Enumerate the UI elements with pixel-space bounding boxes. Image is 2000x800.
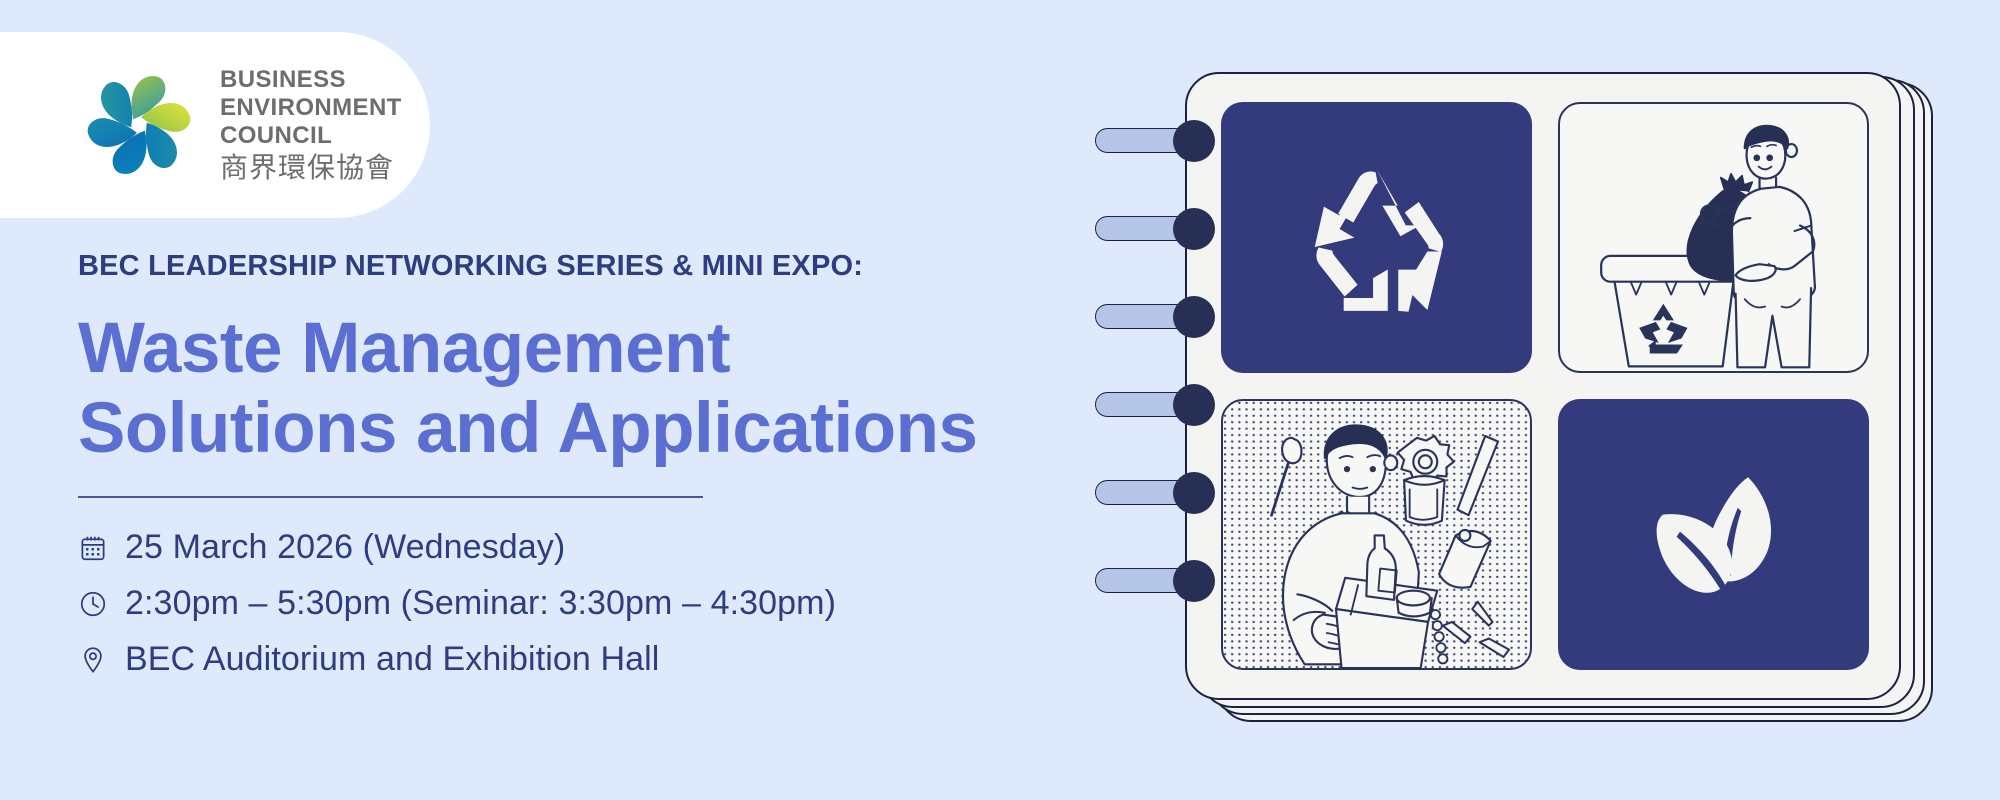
binder-ring-1 bbox=[1095, 120, 1215, 160]
binder-rings bbox=[1095, 120, 1215, 648]
man-bin-bag-tile bbox=[1558, 102, 1869, 373]
event-time-text: 2:30pm – 5:30pm (Seminar: 3:30pm – 4:30p… bbox=[125, 584, 836, 623]
ring-dot bbox=[1173, 120, 1215, 162]
two-leaves-icon bbox=[1629, 450, 1799, 620]
location-pin-icon bbox=[78, 645, 108, 675]
event-detail-time: 2:30pm – 5:30pm (Seminar: 3:30pm – 4:30p… bbox=[78, 584, 1138, 623]
event-details-list: 25 March 2026 (Wednesday) 2:30pm – 5:30p… bbox=[78, 528, 1138, 679]
page-title-line-2: Solutions and Applications bbox=[78, 389, 1138, 469]
ring-dot bbox=[1173, 472, 1215, 514]
binder-ring-2 bbox=[1095, 208, 1215, 248]
ring-dot bbox=[1173, 560, 1215, 602]
binder-ring-4 bbox=[1095, 384, 1215, 424]
logo-line-1: BUSINESS bbox=[220, 66, 402, 94]
binder-ring-3 bbox=[1095, 296, 1215, 336]
event-eyebrow: BEC LEADERSHIP NETWORKING SERIES & MINI … bbox=[78, 250, 1138, 283]
event-date-text: 25 March 2026 (Wednesday) bbox=[125, 528, 565, 567]
page-title: Waste Management Solutions and Applicati… bbox=[78, 309, 1138, 468]
ring-dot bbox=[1173, 208, 1215, 250]
page-title-line-1: Waste Management bbox=[78, 309, 730, 388]
ring-dot bbox=[1173, 296, 1215, 338]
ring-dot bbox=[1173, 384, 1215, 426]
logo-line-2: ENVIRONMENT bbox=[220, 94, 402, 122]
binder-ring-6 bbox=[1095, 560, 1215, 600]
notebook-illustration bbox=[1185, 72, 1945, 722]
event-copy-block: BEC LEADERSHIP NETWORKING SERIES & MINI … bbox=[78, 250, 1138, 679]
notebook-tile-grid bbox=[1221, 102, 1869, 670]
event-detail-date: 25 March 2026 (Wednesday) bbox=[78, 528, 1138, 567]
logo-pill: BUSINESS ENVIRONMENT COUNCIL 商界環保協會 bbox=[0, 32, 430, 218]
recycle-symbol-tile bbox=[1221, 102, 1532, 373]
bec-pinwheel-logo-icon bbox=[80, 66, 198, 184]
calendar-icon bbox=[78, 533, 108, 563]
two-leaves-tile bbox=[1558, 399, 1869, 670]
man-throwing-bag-illustration bbox=[1560, 104, 1867, 371]
binder-ring-5 bbox=[1095, 472, 1215, 512]
event-detail-venue: BEC Auditorium and Exhibition Hall bbox=[78, 640, 1138, 679]
logo-line-3: COUNCIL bbox=[220, 122, 402, 150]
divider bbox=[78, 496, 703, 498]
man-holding-box-illustration bbox=[1223, 401, 1530, 668]
logo-wordmark: BUSINESS ENVIRONMENT COUNCIL 商界環保協會 bbox=[220, 66, 402, 184]
recycle-icon bbox=[1287, 148, 1467, 328]
man-recyclables-tile bbox=[1221, 399, 1532, 670]
logo-line-zh: 商界環保協會 bbox=[220, 152, 402, 184]
clock-icon bbox=[78, 589, 108, 619]
event-venue-text: BEC Auditorium and Exhibition Hall bbox=[125, 640, 659, 679]
